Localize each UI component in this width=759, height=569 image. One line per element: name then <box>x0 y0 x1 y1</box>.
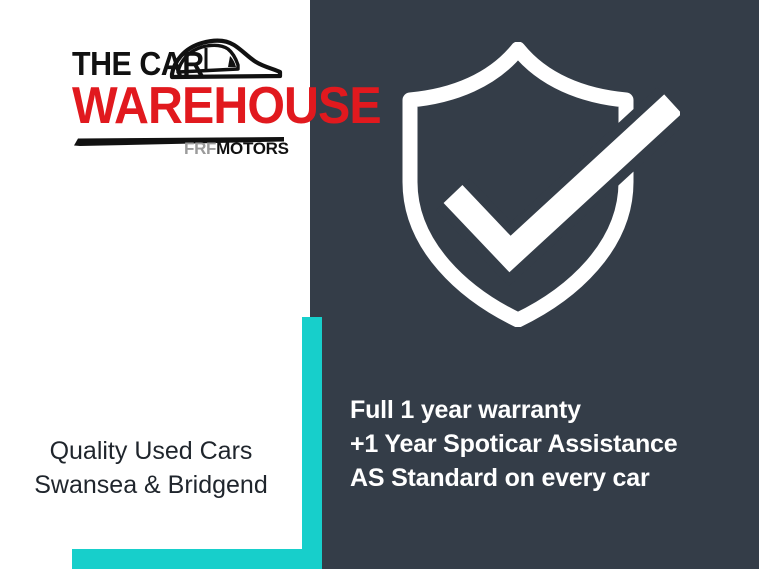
headline-line-1: Full 1 year warranty <box>350 393 750 427</box>
logo-subbrand-motors: MOTORS <box>216 139 289 158</box>
tagline-line-2: Swansea & Bridgend <box>0 468 302 502</box>
shield-check-icon <box>390 42 680 327</box>
headline: Full 1 year warranty +1 Year Spoticar As… <box>350 393 750 495</box>
warranty-banner: THE CAR WAREHOUSE FRFMOTORS Quality Used… <box>0 0 759 569</box>
accent-bar-vertical <box>302 317 322 569</box>
logo-line-warehouse: WAREHOUSE <box>72 80 381 132</box>
company-logo: THE CAR WAREHOUSE FRFMOTORS <box>72 36 284 158</box>
headline-line-3: AS Standard on every car <box>350 461 750 495</box>
logo-subbrand-frf: FRF <box>184 139 216 158</box>
tagline-line-1: Quality Used Cars <box>0 434 302 468</box>
headline-line-2: +1 Year Spoticar Assistance <box>350 427 750 461</box>
logo-subbrand: FRFMOTORS <box>184 140 289 158</box>
logo-line-the-car: THE CAR <box>72 47 204 80</box>
tagline: Quality Used Cars Swansea & Bridgend <box>0 434 302 502</box>
accent-bar-horizontal <box>72 549 322 569</box>
